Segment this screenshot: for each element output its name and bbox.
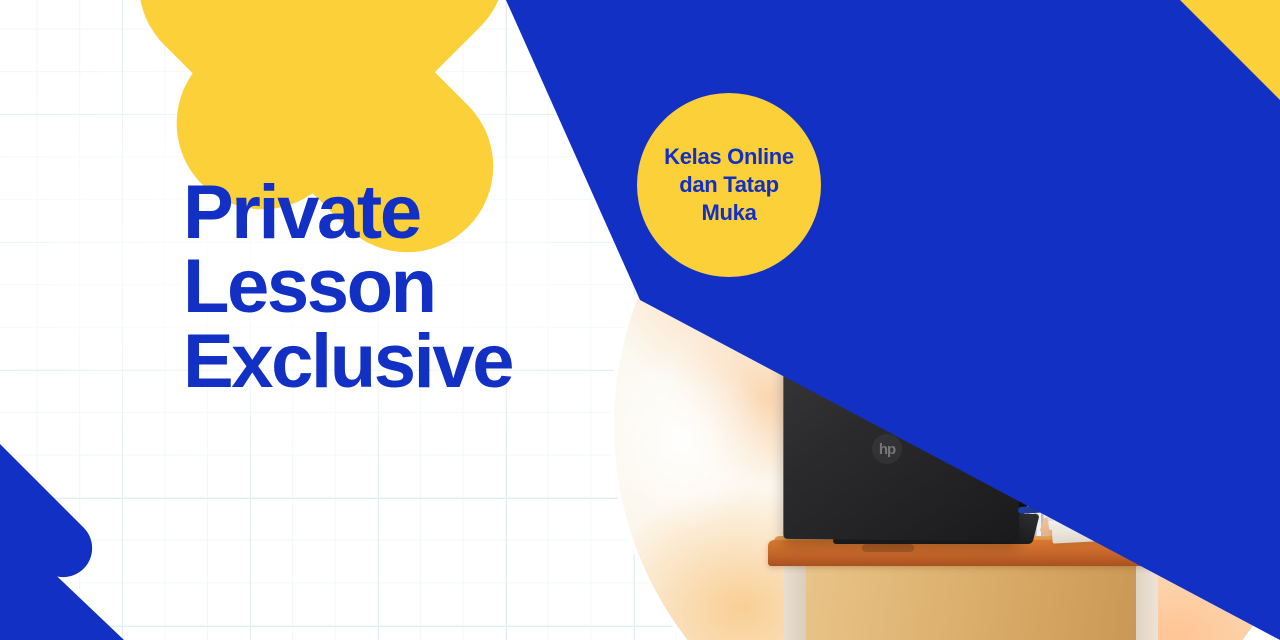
laptop-lid (783, 315, 1019, 541)
headline-line-3: Exclusive (183, 325, 603, 399)
notebook-stack (1046, 492, 1196, 548)
promo-banner: hp (0, 0, 1280, 640)
desk-front-panel (806, 564, 1136, 640)
headline-line-1: Private (183, 176, 603, 250)
badge-circle[interactable]: Kelas Online dan Tatap Muka (637, 93, 821, 277)
badge-text: Kelas Online dan Tatap Muka (654, 143, 804, 226)
headline-block: Private Lesson Exclusive (183, 176, 603, 399)
badge[interactable]: Kelas Online dan Tatap Muka (632, 88, 832, 293)
headline-line-2: Lesson (183, 250, 603, 324)
desk-slot (862, 544, 914, 552)
laptop-logo-icon: hp (872, 434, 902, 464)
